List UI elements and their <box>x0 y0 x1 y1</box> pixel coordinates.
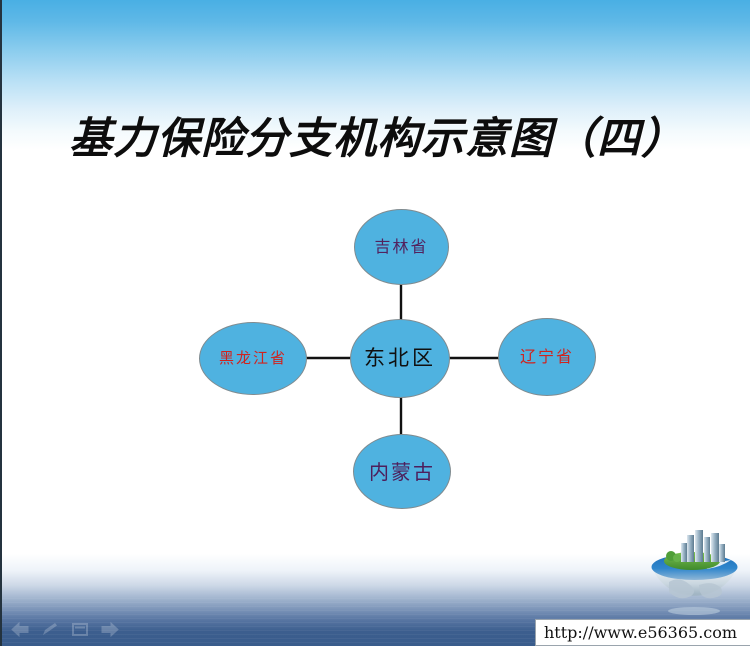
slideshow-nav-controls <box>10 621 120 638</box>
diagram-node-heilongjiang[interactable]: 黑龙江省 <box>199 322 307 395</box>
diagram-node-liaoning[interactable]: 辽宁省 <box>498 318 596 396</box>
node-label: 黑龙江省 <box>219 351 287 366</box>
diagram-node-inner-mongolia[interactable]: 内蒙古 <box>353 434 451 509</box>
node-label: 东北区 <box>364 348 436 369</box>
org-structure-diagram: 吉林省 黑龙江省 东北区 辽宁省 内蒙古 <box>2 0 750 646</box>
pen-icon[interactable] <box>40 621 60 638</box>
menu-box-icon[interactable] <box>70 621 90 638</box>
node-label: 吉林省 <box>374 239 428 255</box>
presentation-slide: 基力保险分支机构示意图（四） 吉林省 黑龙江省 东北区 辽宁省 内蒙古 <box>0 0 750 646</box>
node-label: 内蒙古 <box>369 462 435 482</box>
website-url-text: http://www.e56365.com <box>544 623 737 642</box>
arrow-right-icon[interactable] <box>100 621 120 638</box>
globe-city-logo-icon <box>647 527 742 619</box>
website-url-bar[interactable]: http://www.e56365.com <box>535 619 750 646</box>
arrow-left-icon[interactable] <box>10 621 30 638</box>
node-label: 辽宁省 <box>520 349 574 365</box>
diagram-node-northeast-region[interactable]: 东北区 <box>350 319 450 398</box>
diagram-node-jilin[interactable]: 吉林省 <box>354 209 449 285</box>
